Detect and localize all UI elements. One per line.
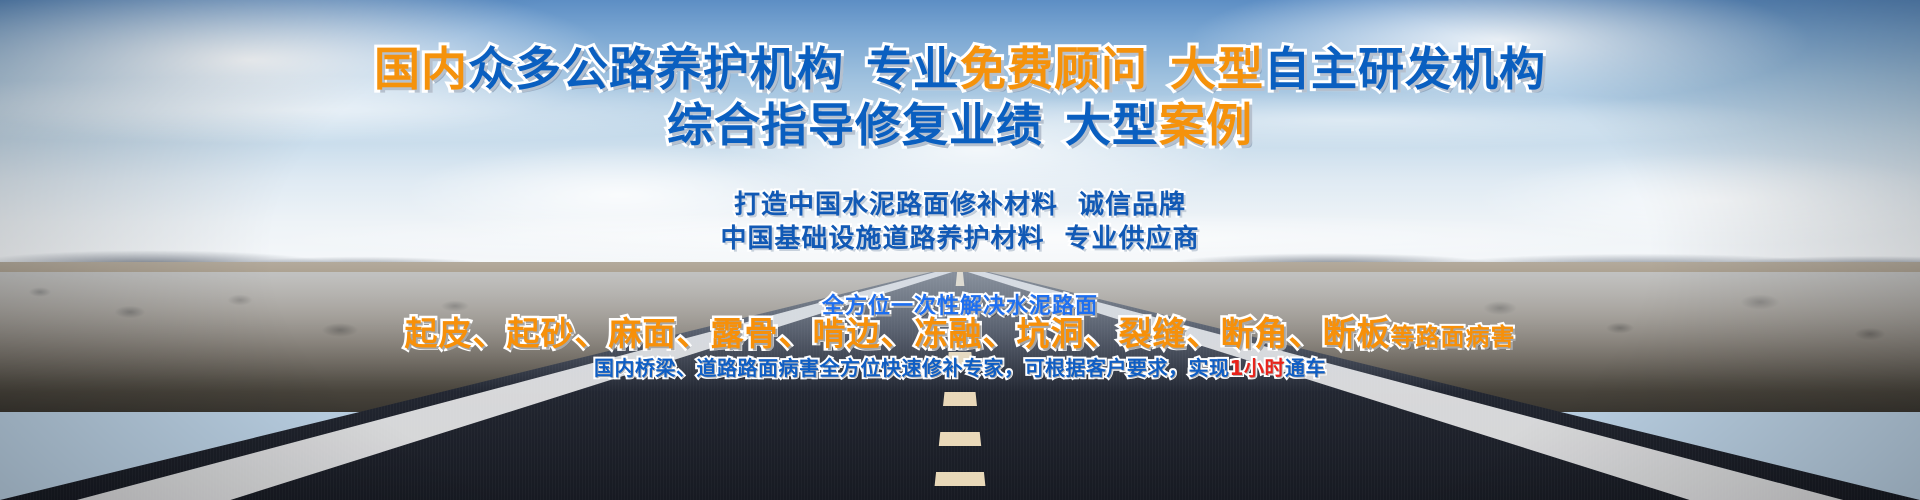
headline-1-segment-zizhu: 自主研发机构	[1264, 42, 1546, 96]
headline-1-segment-zhuanye: 专业	[866, 42, 960, 96]
headline-1-segment-mianfei: 免费顾问	[960, 42, 1148, 96]
headline-2-segment-daxing: 大型	[1065, 98, 1159, 152]
defect-list: 起皮、起砂、麻面、露骨、啃边、冻融、坑洞、裂缝、断角、断板	[405, 314, 1391, 353]
footer-claim-line: 国内桥梁、道路路面病害全方位快速修补专家，可根据客户要求，实现1小时通车	[0, 358, 1920, 378]
headline-1-segment-daxing: 大型	[1170, 42, 1264, 96]
banner-text-content: 国内众多公路养护机构专业免费顾问大型自主研发机构 综合指导修复业绩大型案例 打造…	[0, 0, 1920, 500]
subtitle-1-left: 打造中国水泥路面修补材料	[734, 190, 1058, 220]
subtitle-1-right: 诚信品牌	[1078, 190, 1186, 220]
footer-claim-highlight: 1小时	[1230, 356, 1285, 380]
subtitle-line-1: 打造中国水泥路面修补材料诚信品牌	[0, 192, 1920, 218]
headline-line-1: 国内众多公路养护机构专业免费顾问大型自主研发机构	[0, 46, 1920, 92]
promo-banner: 国内众多公路养护机构专业免费顾问大型自主研发机构 综合指导修复业绩大型案例 打造…	[0, 0, 1920, 500]
headline-2-segment-zonghe: 综合指导修复业绩	[667, 98, 1043, 152]
subtitle-2-right: 专业供应商	[1065, 224, 1200, 254]
defect-list-suffix: 等路面病害	[1391, 323, 1516, 351]
footer-claim-part1: 国内桥梁、道路路面病害全方位快速修补专家，可根据客户要求，实现	[594, 356, 1230, 380]
subtitle-line-2: 中国基础设施道路养护材料专业供应商	[0, 226, 1920, 252]
headline-1-segment-guonei: 国内	[374, 42, 468, 96]
defect-list-line: 起皮、起砂、麻面、露骨、啃边、冻融、坑洞、裂缝、断角、断板等路面病害	[0, 317, 1920, 350]
headline-1-segment-zhongduo: 众多公路养护机构	[468, 42, 844, 96]
subtitle-2-left: 中国基础设施道路养护材料	[720, 224, 1044, 254]
footer-claim-part2: 通车	[1285, 356, 1326, 380]
headline-line-2: 综合指导修复业绩大型案例	[0, 102, 1920, 148]
headline-2-segment-anli: 案例	[1159, 98, 1253, 152]
